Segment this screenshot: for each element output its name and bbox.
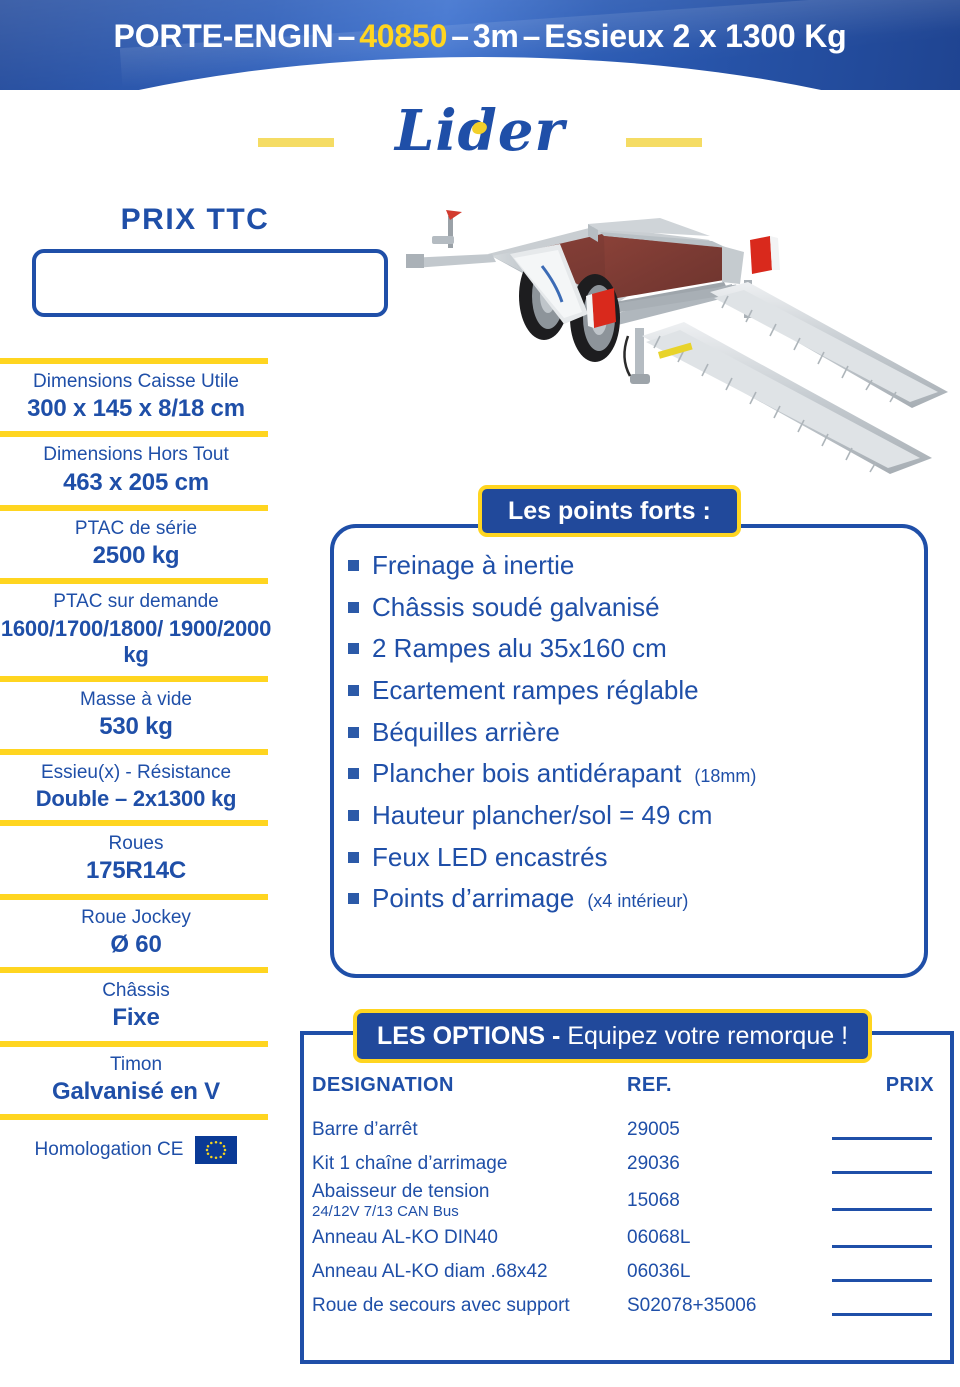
option-ref: 06068L bbox=[627, 1227, 832, 1249]
title-dash-3: – bbox=[519, 18, 545, 55]
spec-value: 2500 kg bbox=[0, 542, 272, 570]
spec-label: Essieu(x) - Résistance bbox=[0, 761, 272, 784]
option-price-field[interactable] bbox=[832, 1191, 934, 1211]
options-title-rest: Equipez votre remorque ! bbox=[567, 1022, 848, 1051]
option-ref: 06036L bbox=[627, 1261, 832, 1283]
table-row: Abaisseur de tension 24/12V 7/13 CAN Bus… bbox=[312, 1181, 934, 1221]
bullet-label: Hauteur plancher/sol = 49 cm bbox=[372, 800, 712, 831]
spec-item-dimensions-caisse: Dimensions Caisse Utile 300 x 145 x 8/18… bbox=[0, 364, 272, 431]
spec-label: Dimensions Hors Tout bbox=[0, 443, 272, 466]
spec-value: Galvanisé en V bbox=[0, 1078, 272, 1106]
spec-item-masse-vide: Masse à vide 530 kg bbox=[0, 682, 272, 749]
options-title-badge: LES OPTIONS - Equipez votre remorque ! bbox=[353, 1009, 872, 1063]
spec-item-dimensions-hors-tout: Dimensions Hors Tout 463 x 205 cm bbox=[0, 437, 272, 504]
price-write-line bbox=[832, 1208, 932, 1211]
price-write-line bbox=[832, 1313, 932, 1316]
trailer-drawbar bbox=[406, 210, 496, 268]
spec-item-chassis: Châssis Fixe bbox=[0, 973, 272, 1040]
table-row: Anneau AL-KO DIN40 06068L bbox=[312, 1221, 934, 1255]
spec-label: Timon bbox=[0, 1053, 272, 1076]
spec-value: 530 kg bbox=[0, 713, 272, 741]
option-ref: 29036 bbox=[627, 1153, 832, 1175]
bullet-label: Points d’arrimage bbox=[372, 883, 574, 914]
table-row: Roue de secours avec support S02078+3500… bbox=[312, 1289, 934, 1323]
bullet-label: Béquilles arrière bbox=[372, 717, 560, 748]
option-designation: Kit 1 chaîne d’arrimage bbox=[312, 1153, 627, 1175]
list-item: Béquilles arrière bbox=[348, 717, 904, 748]
list-item: Plancher bois antidérapant (18mm) bbox=[348, 758, 904, 789]
option-ref: 29005 bbox=[627, 1119, 832, 1141]
price-write-line bbox=[832, 1137, 932, 1140]
bullet-label: 2 Rampes alu 35x160 cm bbox=[372, 633, 667, 664]
option-ref: 15068 bbox=[627, 1190, 832, 1212]
points-forts-list: Freinage à inertie Châssis soudé galvani… bbox=[348, 550, 904, 925]
price-write-line bbox=[832, 1245, 932, 1248]
title-length: 3m bbox=[473, 18, 519, 55]
option-designation: Anneau AL-KO diam .68x42 bbox=[312, 1261, 627, 1283]
spec-value: 1600/1700/1800/ 1900/2000 kg bbox=[0, 616, 272, 668]
product-photo bbox=[392, 196, 952, 474]
loading-ramps bbox=[642, 282, 948, 474]
option-designation-sub: 24/12V 7/13 CAN Bus bbox=[312, 1203, 627, 1221]
eu-flag-icon bbox=[195, 1136, 237, 1164]
bullet-square-icon bbox=[348, 727, 359, 738]
bullet-label: Feux LED encastrés bbox=[372, 842, 608, 873]
spec-value: Ø 60 bbox=[0, 931, 272, 959]
option-price-field[interactable] bbox=[832, 1228, 934, 1248]
brand-logo: Lider bbox=[258, 100, 702, 178]
option-designation: Barre d’arrêt bbox=[312, 1119, 627, 1141]
price-write-line bbox=[832, 1171, 932, 1174]
option-designation-main: Abaisseur de tension bbox=[312, 1181, 489, 1202]
bullet-square-icon bbox=[348, 768, 359, 779]
title-dash-2: – bbox=[447, 18, 473, 55]
option-price-field[interactable] bbox=[832, 1120, 934, 1140]
list-item: Châssis soudé galvanisé bbox=[348, 592, 904, 623]
table-row: Anneau AL-KO diam .68x42 06036L bbox=[312, 1255, 934, 1289]
bullet-label: Châssis soudé galvanisé bbox=[372, 592, 660, 623]
spec-item-roue-jockey: Roue Jockey Ø 60 bbox=[0, 900, 272, 967]
price-input-box[interactable] bbox=[32, 249, 388, 317]
bullet-sublabel: (x4 intérieur) bbox=[587, 891, 688, 912]
bullet-square-icon bbox=[348, 893, 359, 904]
options-table-header: DESIGNATION REF. PRIX bbox=[312, 1074, 934, 1097]
title-model-number: 40850 bbox=[359, 18, 447, 55]
bullet-square-icon bbox=[348, 643, 359, 654]
specifications-column: Dimensions Caisse Utile 300 x 145 x 8/18… bbox=[0, 358, 272, 1174]
page-title: PORTE-ENGIN – 40850 – 3m – Essieux 2 x 1… bbox=[0, 0, 960, 72]
points-forts-title-badge: Les points forts : bbox=[478, 485, 741, 537]
option-designation: Abaisseur de tension 24/12V 7/13 CAN Bus bbox=[312, 1181, 627, 1221]
spec-item-roues: Roues 175R14C bbox=[0, 826, 272, 893]
bullet-square-icon bbox=[348, 685, 359, 696]
table-row: Barre d’arrêt 29005 bbox=[312, 1113, 934, 1147]
column-header-ref: REF. bbox=[627, 1074, 832, 1097]
spec-label: Roues bbox=[0, 832, 272, 855]
column-header-prix: PRIX bbox=[832, 1074, 934, 1097]
spec-value: Fixe bbox=[0, 1004, 272, 1032]
list-item: Hauteur plancher/sol = 49 cm bbox=[348, 800, 904, 831]
bullet-square-icon bbox=[348, 852, 359, 863]
spec-value: 463 x 205 cm bbox=[0, 469, 272, 497]
column-header-designation: DESIGNATION bbox=[312, 1074, 627, 1097]
title-product-type: PORTE-ENGIN bbox=[114, 18, 334, 55]
spec-label: Châssis bbox=[0, 979, 272, 1002]
spec-label: Masse à vide bbox=[0, 688, 272, 711]
spec-label: Roue Jockey bbox=[0, 906, 272, 929]
price-write-line bbox=[832, 1279, 932, 1282]
options-title-bold: LES OPTIONS - bbox=[377, 1022, 560, 1051]
homologation-row: Homologation CE bbox=[0, 1120, 272, 1174]
bullet-label: Freinage à inertie bbox=[372, 550, 574, 581]
bullet-label: Ecartement rampes réglable bbox=[372, 675, 699, 706]
spec-label: PTAC sur demande bbox=[0, 590, 272, 613]
list-item: Ecartement rampes réglable bbox=[348, 675, 904, 706]
option-designation: Anneau AL-KO DIN40 bbox=[312, 1227, 627, 1249]
bullet-label: Plancher bois antidérapant bbox=[372, 758, 681, 789]
price-title: PRIX TTC bbox=[0, 203, 390, 237]
list-item: Feux LED encastrés bbox=[348, 842, 904, 873]
spec-item-ptac-serie: PTAC de série 2500 kg bbox=[0, 511, 272, 578]
bullet-square-icon bbox=[348, 560, 359, 571]
spec-item-timon: Timon Galvanisé en V bbox=[0, 1047, 272, 1114]
option-price-field[interactable] bbox=[832, 1154, 934, 1174]
table-row: Kit 1 chaîne d’arrimage 29036 bbox=[312, 1147, 934, 1181]
spec-item-ptac-demande: PTAC sur demande 1600/1700/1800/ 1900/20… bbox=[0, 584, 272, 675]
spec-item-essieux: Essieu(x) - Résistance Double – 2x1300 k… bbox=[0, 755, 272, 820]
spec-value: 300 x 145 x 8/18 cm bbox=[0, 395, 272, 423]
spec-value: 175R14C bbox=[0, 857, 272, 885]
options-table-body: Barre d’arrêt 29005 Kit 1 chaîne d’arrim… bbox=[312, 1113, 934, 1323]
homologation-label: Homologation CE bbox=[35, 1139, 184, 1161]
option-price-field[interactable] bbox=[832, 1262, 934, 1282]
list-item: Points d’arrimage (x4 intérieur) bbox=[348, 883, 904, 914]
bullet-square-icon bbox=[348, 810, 359, 821]
bullet-sublabel: (18mm) bbox=[694, 766, 756, 787]
title-dash-1: – bbox=[334, 18, 360, 55]
bullet-square-icon bbox=[348, 602, 359, 613]
option-price-field[interactable] bbox=[832, 1296, 934, 1316]
spec-value: Double – 2x1300 kg bbox=[0, 786, 272, 812]
title-axles: Essieux 2 x 1300 Kg bbox=[544, 18, 846, 55]
spec-label: PTAC de série bbox=[0, 517, 272, 540]
list-item: 2 Rampes alu 35x160 cm bbox=[348, 633, 904, 664]
option-designation: Roue de secours avec support bbox=[312, 1295, 627, 1317]
spec-label: Dimensions Caisse Utile bbox=[0, 370, 272, 393]
option-ref: S02078+35006 bbox=[627, 1295, 832, 1317]
list-item: Freinage à inertie bbox=[348, 550, 904, 581]
